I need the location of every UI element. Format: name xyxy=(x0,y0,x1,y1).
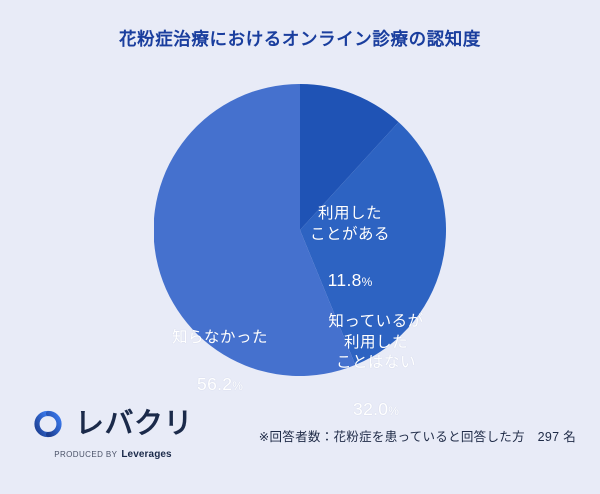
pie-label-known-not-used-text: 知っているが 利用した ことはない xyxy=(308,312,444,373)
pie-label-used-number: 11.8 xyxy=(328,270,362,290)
brand-logo[interactable]: レバクリ PRODUCED BY Leverages xyxy=(28,404,196,466)
produced-by-lead: PRODUCED BY xyxy=(54,450,117,459)
footer: レバクリ PRODUCED BY Leverages ※回答者数：花粉症を患って… xyxy=(0,382,600,494)
page-header: 花粉症治療におけるオンライン診療の認知度 xyxy=(0,0,600,76)
pie-label-used-unit: % xyxy=(362,275,373,289)
produced-by: PRODUCED BY Leverages xyxy=(30,449,196,460)
pie-label-used-value: 11.8% xyxy=(286,269,414,292)
brand-wordmark: レバクリ xyxy=(75,410,193,439)
chain-link-icon xyxy=(28,405,68,443)
brand-logo-row: レバクリ xyxy=(28,404,196,444)
produced-by-brand: Leverages xyxy=(121,449,171,460)
page-title: 花粉症治療におけるオンライン診療の認知度 xyxy=(119,26,481,51)
respondent-note: ※回答者数：花粉症を患っていると回答した方 297 名 xyxy=(259,426,576,445)
pie-label-used-text: 利用した ことがある xyxy=(286,204,414,245)
pie-label-unknown-text: 知らなかった xyxy=(146,328,294,348)
pie-chart: 利用した ことがある 11.8% 知っているが 利用した ことはない 32.0%… xyxy=(0,76,600,382)
